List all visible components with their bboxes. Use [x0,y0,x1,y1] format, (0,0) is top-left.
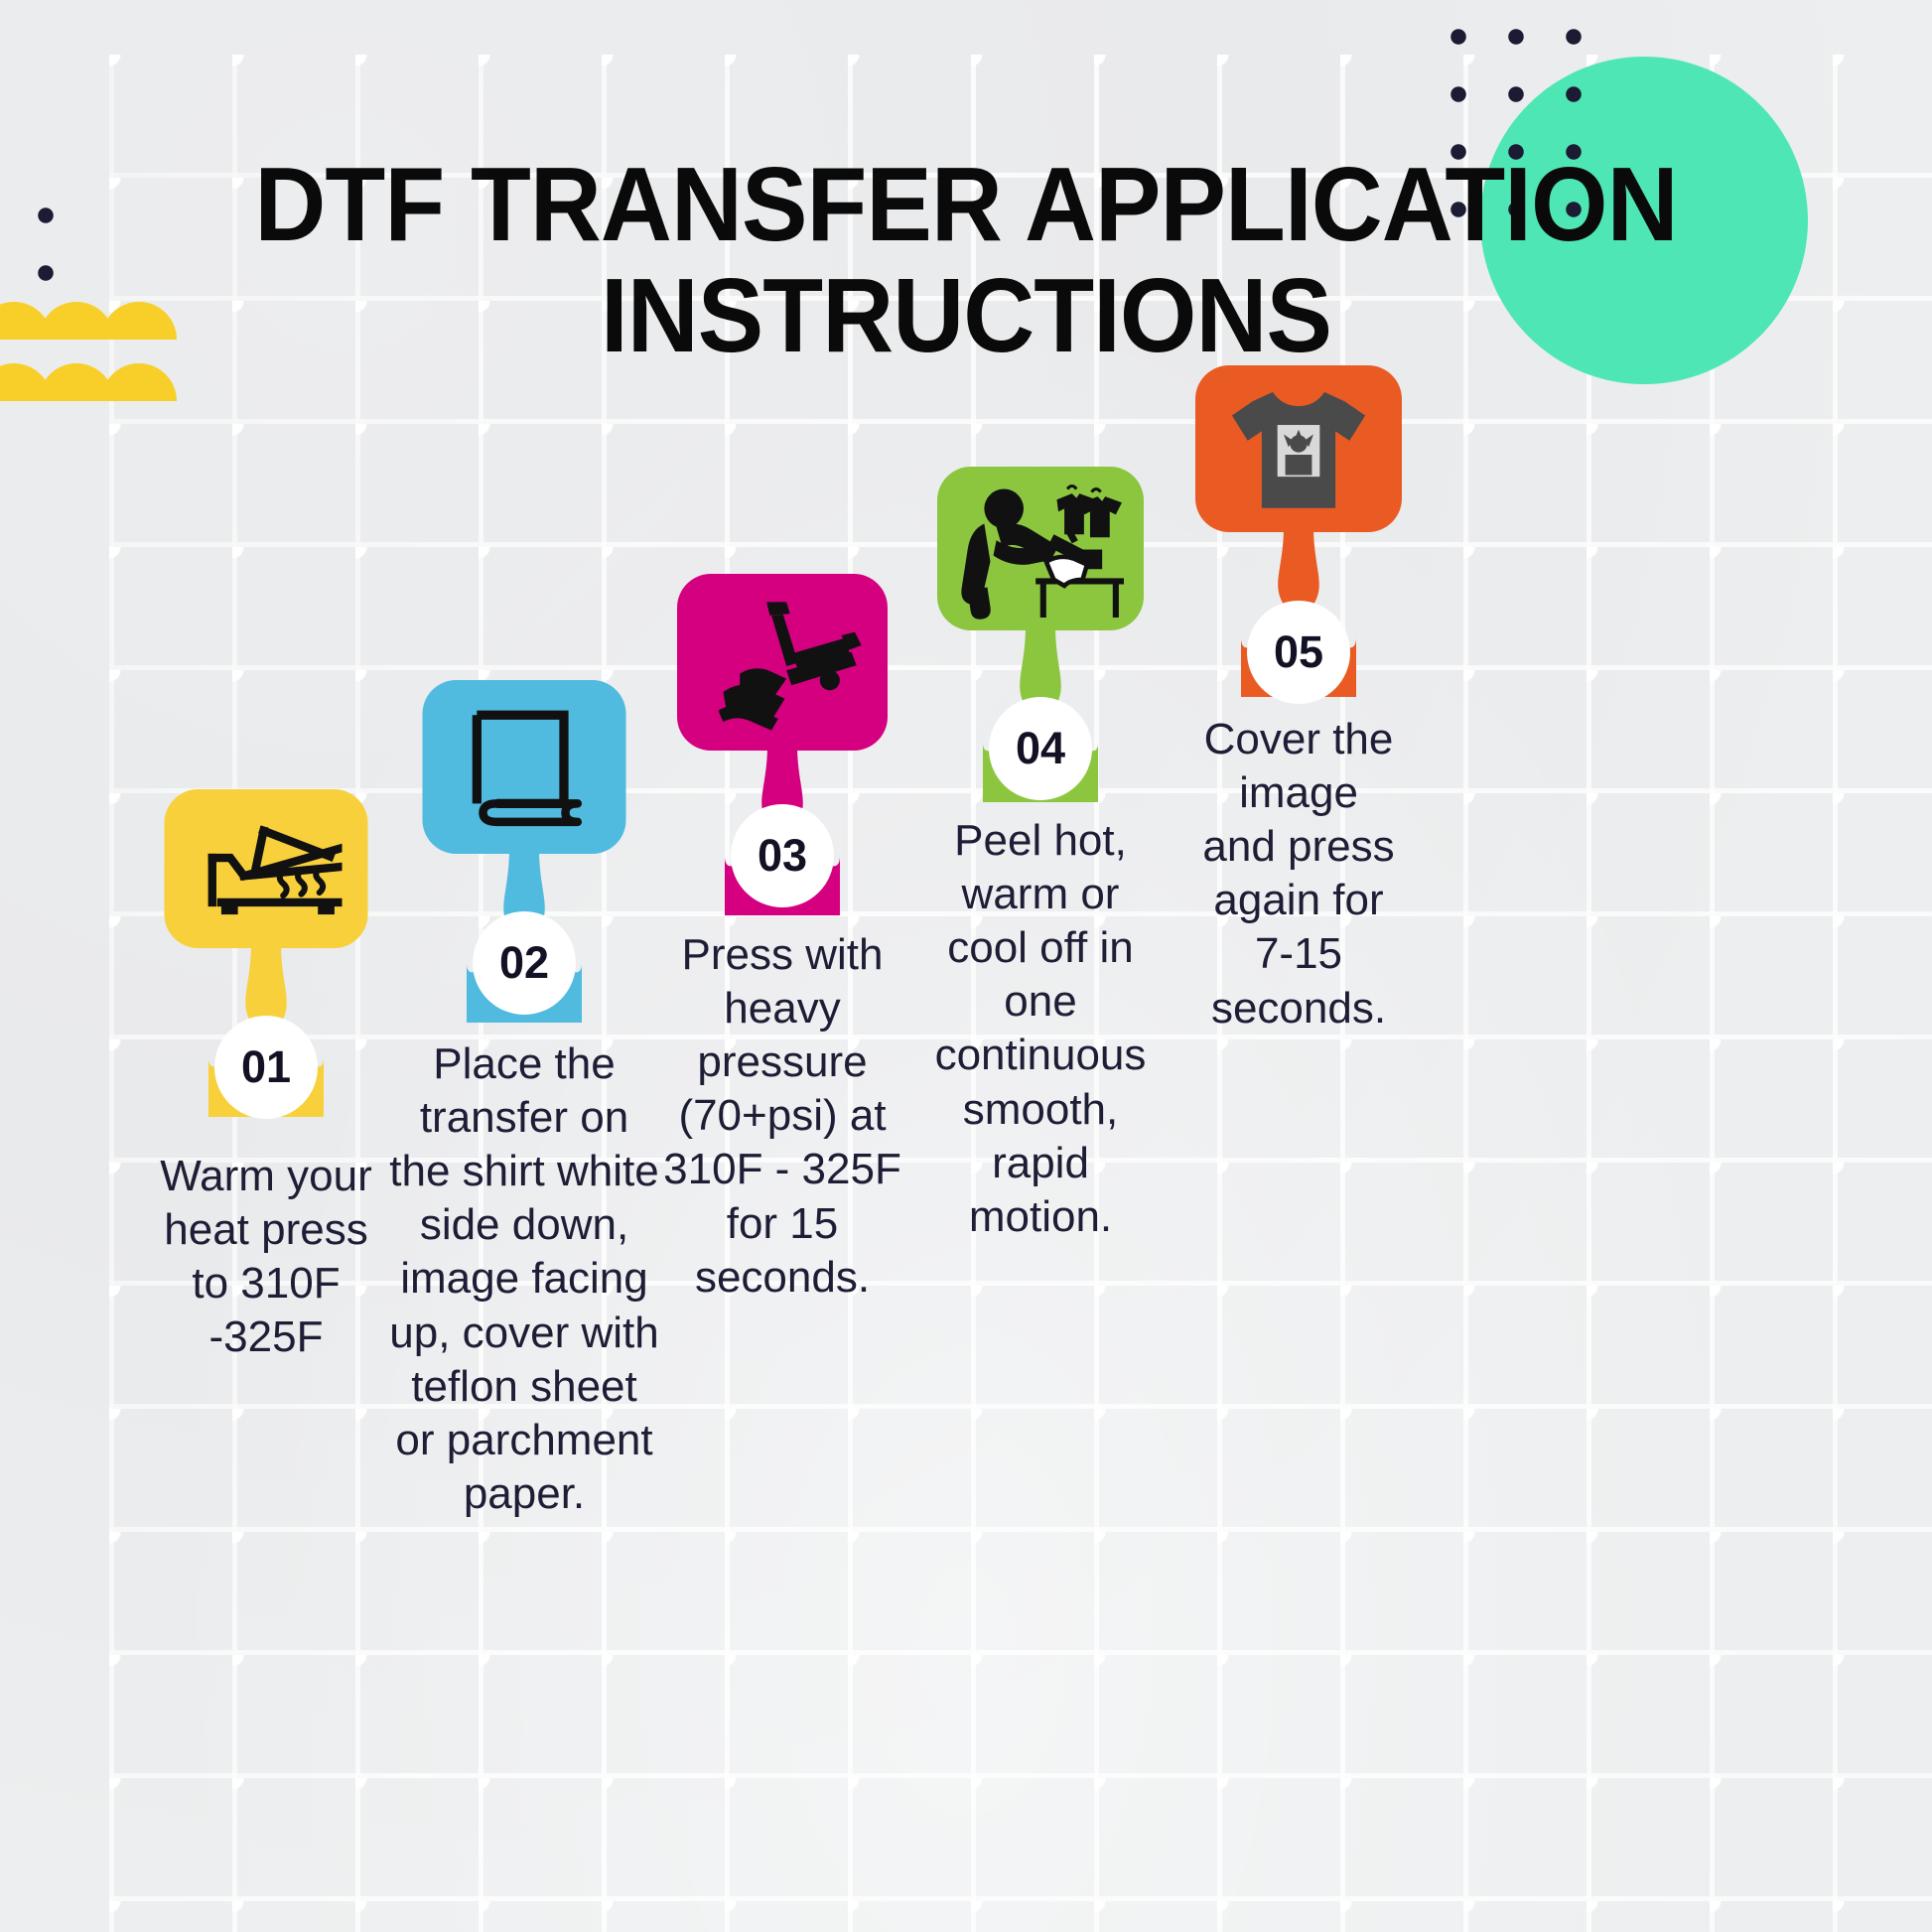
step-caption: Warm your heat press to 310F -325F [142,1150,390,1364]
step-caption: Peel hot, warm or cool off in one contin… [931,814,1150,1244]
step-icon-card[interactable] [1195,365,1402,532]
step-icon-card[interactable] [937,467,1144,630]
step-caption: Press with heavy pressure (70+psi) at 31… [659,928,905,1305]
printed-tshirt-icon [1224,382,1373,516]
heat-press-pressing-icon [703,594,862,731]
step-number-badge: 04 [989,697,1092,800]
step-caption: Cover the image and press again for 7-15… [1200,713,1397,1035]
step-number-badge: 02 [473,911,576,1015]
step-icon-card[interactable] [165,789,368,948]
step-number-badge: 05 [1247,601,1350,704]
transfer-sheet-icon [464,706,586,828]
page-title-line-2: INSTRUCTIONS [601,257,1331,374]
step-number-badge: 03 [731,804,834,907]
person-peeling-transfer-icon [957,477,1123,621]
page-title-line-1: DTF TRANSFER APPLICATION [254,146,1677,263]
step-icon-card[interactable] [677,574,888,751]
step-caption: Place the transfer on the shirt white si… [389,1037,659,1521]
step-number-badge: 01 [214,1016,318,1119]
step-icon-card[interactable] [423,680,626,854]
page-title: DTF TRANSFER APPLICATION INSTRUCTIONS [58,149,1873,372]
heat-press-open-icon [191,814,342,922]
